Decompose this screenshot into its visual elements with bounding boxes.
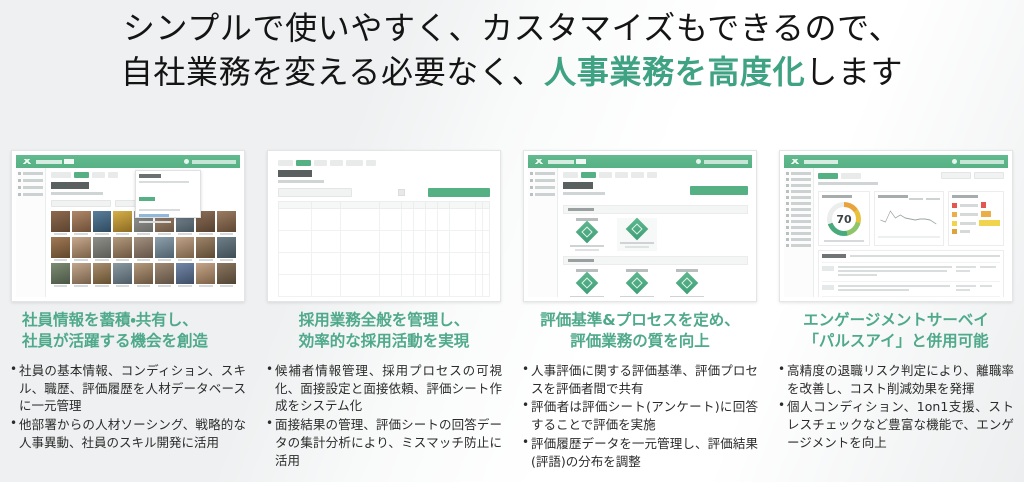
list-item[interactable] (822, 281, 1000, 296)
diamond-icon (676, 272, 699, 295)
caption-title: 採用業務全般を管理し、 効率的な採用活動を実現 (266, 310, 502, 353)
account-name[interactable] (704, 160, 748, 164)
col-review[interactable] (475, 202, 482, 209)
table-row (279, 275, 490, 297)
monthly-list-panel (818, 250, 1004, 297)
col-round-1[interactable] (401, 202, 413, 209)
bullet-list: 高精度の退職リスク判定により、離職率を改善し、コスト削減効果を発揮 個人コンディ… (778, 362, 1014, 452)
employee-photo-grid (51, 211, 236, 287)
app-header-bar (784, 155, 1008, 168)
list-item: 高精度の退職リスク判定により、離職率を改善し、コスト削減効果を発揮 (778, 362, 1014, 398)
section-header-2023[interactable] (563, 256, 748, 265)
caption-engagement: エンゲージメントサーベイ 「パルスアイ」と併用可能 高精度の退職リスク判定により… (768, 310, 1024, 471)
sidebar-item[interactable] (786, 244, 811, 247)
employee-card[interactable] (93, 237, 112, 261)
sidebar-item[interactable] (786, 172, 811, 175)
report-icon (786, 220, 789, 223)
team-icon (786, 232, 789, 235)
page-title (278, 170, 312, 177)
gear-icon (530, 193, 533, 196)
alert-item[interactable] (952, 202, 1000, 208)
page-subtitle (563, 192, 605, 195)
sidebar-item[interactable] (786, 196, 811, 199)
tab-history[interactable] (631, 172, 644, 178)
warning-icon (952, 212, 957, 217)
col-round-3[interactable] (426, 202, 438, 209)
grid-icon (530, 172, 533, 175)
app-header-bar (16, 155, 240, 168)
tab-settings[interactable] (108, 172, 118, 178)
list-item: 評価者は評価シート(アンケート)に回答することで評価を実施 (522, 398, 758, 434)
employee-card[interactable] (155, 263, 174, 287)
tab-settings[interactable] (647, 172, 657, 178)
evaluation-card[interactable] (617, 218, 657, 251)
col-stage[interactable] (450, 202, 475, 209)
app-header-bar (528, 155, 752, 168)
diamond-icon (576, 272, 599, 295)
table-row (279, 209, 490, 231)
logo-badge (576, 159, 586, 164)
employee-card[interactable] (93, 263, 112, 287)
filter-label (357, 189, 393, 196)
list-item: 面接結果の管理、評価シートの回答データの集計分析により、ミスマッチ防止に活用 (266, 416, 502, 469)
sidebar-item[interactable] (786, 208, 811, 211)
headline-line-1: シンプルで使いやすく、カスタマイズもできるので、 (0, 6, 1024, 50)
gear-icon (786, 244, 789, 247)
home-icon (786, 172, 789, 175)
risk-alert-panel (948, 191, 1004, 246)
employee-card[interactable] (72, 211, 91, 235)
employee-card[interactable] (196, 263, 215, 287)
list-header (822, 254, 1000, 258)
caption-title: エンゲージメントサーベイ 「パルスアイ」と併用可能 (778, 310, 1014, 353)
column-evaluation (512, 150, 768, 302)
tab-bar (278, 160, 490, 166)
col-candidate-name[interactable] (312, 202, 341, 209)
sidebar-item[interactable] (786, 184, 811, 187)
logo-mark-icon (788, 159, 802, 164)
screenshot-card-engagement-dashboard[interactable]: 70 (779, 150, 1013, 302)
screenshot-card-evaluation-list[interactable] (523, 150, 757, 302)
alert-item[interactable] (952, 220, 1000, 226)
employee-detail-popover[interactable] (135, 170, 201, 218)
sidebar-item[interactable] (786, 214, 811, 217)
tab-evaluation-management[interactable] (563, 172, 578, 178)
tab-org[interactable] (92, 172, 105, 178)
list-item: 人事評価に関する評価基準、評価プロセスを評価者間で共有 (522, 362, 758, 398)
employee-card[interactable] (134, 237, 153, 261)
tab-interviews[interactable] (330, 160, 343, 166)
export-icon (786, 238, 789, 241)
caption-evaluation: 評価基準&プロセスを定め、 評価業務の質を向上 人事評価に関する評価基準、評価プ… (512, 310, 768, 471)
caption-employee-database: 社員情報を蓄積・共有し、 社員が活躍する機会を創造 社員の基本情報、コンディショ… (0, 310, 256, 471)
trend-line (878, 202, 940, 234)
popover-tag (139, 197, 155, 201)
tab-members[interactable] (841, 173, 861, 179)
sidebar-item[interactable] (786, 232, 811, 235)
tab-database[interactable] (51, 172, 71, 178)
condition-gauge-panel: 70 (818, 191, 870, 246)
table-row (279, 297, 490, 298)
headline-line-2-prefix: 自社業務を変える必要なく、 (121, 53, 544, 91)
app-logo (532, 159, 586, 164)
headline-line-2-suffix: します (805, 53, 903, 91)
app-header-actions (952, 159, 1004, 164)
status-badge (822, 285, 834, 290)
list-item: 社員の基本情報、コンディション、スキル、職歴、評価履歴を人材データベースに一元管… (10, 362, 246, 415)
grid-icon (18, 172, 21, 175)
sidebar-item[interactable] (786, 178, 811, 181)
caption-recruiting: 採用業務全般を管理し、 効率的な採用活動を実現 候補者情報管理、採用プロセスの可… (256, 310, 512, 471)
analysis-icon (786, 226, 789, 229)
employee-card[interactable] (176, 237, 195, 261)
sidebar-nav (16, 168, 46, 297)
employee-card[interactable] (51, 211, 70, 235)
tab-bar (563, 172, 748, 178)
employee-card[interactable] (176, 263, 195, 287)
headline: シンプルで使いやすく、カスタマイズもできるので、 自社業務を変える必要なく、人事… (0, 0, 1024, 94)
tab-evaluation-list[interactable] (581, 172, 596, 178)
sidebar-item[interactable] (786, 190, 811, 193)
tab-surveys[interactable] (346, 160, 363, 166)
employee-card[interactable] (113, 211, 132, 235)
alert-item[interactable] (952, 211, 1000, 217)
employee-card[interactable] (155, 237, 174, 261)
evaluation-card[interactable] (567, 218, 607, 251)
employee-card[interactable] (72, 263, 91, 287)
add-candidate-button[interactable] (428, 188, 490, 197)
logo-badge (64, 159, 74, 164)
oneonone-icon (786, 208, 789, 211)
account-name[interactable] (960, 160, 1004, 164)
sidebar-nav (528, 168, 558, 297)
col-edit[interactable] (482, 202, 489, 209)
tab-settings[interactable] (366, 160, 376, 166)
gear-icon (18, 193, 21, 196)
sidebar-nav (784, 168, 814, 297)
org-icon (18, 186, 21, 189)
caption-title: 社員情報を蓄積・共有し、 社員が活躍する機会を創造 (10, 310, 246, 353)
condition-icon (786, 202, 789, 205)
headline-highlight: 人事業務を高度化 (544, 53, 805, 91)
tab-recruiting-management[interactable] (296, 160, 311, 166)
condition-gauge: 70 (827, 202, 861, 236)
page-title (51, 182, 89, 189)
app-logo (20, 159, 74, 164)
gauge-panel-title (822, 195, 852, 198)
evaluation-card[interactable] (617, 269, 657, 297)
tab-dashboard[interactable] (818, 173, 838, 179)
legend-item (926, 198, 940, 200)
logo-wordmark (548, 160, 574, 164)
col-round-2[interactable] (414, 202, 426, 209)
screenshot-card-applicant-table[interactable] (267, 150, 501, 302)
diamond-icon (576, 221, 599, 244)
tab-applications[interactable] (278, 160, 293, 166)
app-header-actions (184, 159, 236, 164)
sidebar-item[interactable] (786, 220, 811, 223)
condition-trend-panel (874, 191, 944, 246)
sidebar-item[interactable] (18, 179, 43, 182)
employee-card[interactable] (113, 263, 132, 287)
evaluation-card[interactable] (667, 269, 707, 297)
diamond-icon (626, 218, 649, 241)
survey-icon (786, 190, 789, 193)
evaluation-card[interactable] (567, 269, 607, 297)
status-badge (822, 266, 834, 271)
page-title (563, 182, 593, 189)
slide-root: シンプルで使いやすく、カスタマイズもできるので、 自社業務を変える必要なく、人事… (0, 0, 1024, 482)
search-input[interactable] (278, 188, 352, 197)
legend-item (909, 198, 923, 200)
sidebar-item[interactable] (530, 172, 555, 175)
column-engagement: 70 (768, 150, 1024, 302)
diamond-icon (626, 272, 649, 295)
employee-card[interactable] (113, 237, 132, 261)
logo-mark-icon (532, 159, 546, 164)
list-item: 個人コンディション、1on1支援、ストレスチェックなど豊富な機能で、エンゲージメ… (778, 398, 1014, 451)
warning-icon (952, 229, 957, 234)
employee-card[interactable] (51, 263, 70, 287)
search-input[interactable] (51, 200, 111, 207)
employee-card[interactable] (93, 211, 112, 235)
warning-icon (952, 203, 957, 208)
popover-link[interactable] (139, 214, 169, 217)
trend-chart (878, 202, 940, 234)
col-position[interactable] (341, 202, 380, 209)
employee-card[interactable] (217, 237, 236, 261)
logo-wordmark (804, 160, 838, 164)
employee-card[interactable] (134, 263, 153, 287)
caption-title: 評価基準&プロセスを定め、 評価業務の質を向上 (522, 310, 758, 353)
sidebar-item[interactable] (18, 172, 43, 175)
gauge-caption (824, 240, 864, 242)
employee-card[interactable] (217, 263, 236, 287)
warning-icon (952, 221, 957, 226)
page-subtitle (51, 192, 103, 195)
chart-title (878, 195, 908, 198)
clipboard-icon (530, 179, 533, 182)
stress-check-icon (786, 214, 789, 217)
list-item: 他部署からの人材ソーシング、戦略的な人事異動、社員のスキル開発に活用 (10, 416, 246, 452)
employee-card[interactable] (72, 237, 91, 261)
filter-icon[interactable] (398, 189, 405, 196)
create-evaluation-button[interactable] (690, 186, 748, 195)
col-result[interactable] (438, 202, 450, 209)
table-header-row (279, 202, 490, 209)
tab-candidates[interactable] (314, 160, 327, 166)
alerts-title (952, 195, 978, 198)
table-row (279, 231, 490, 253)
sidebar-item[interactable] (530, 193, 555, 196)
logo-mark-icon (20, 159, 34, 164)
breadcrumb (818, 182, 878, 185)
notification-icon[interactable] (696, 159, 701, 164)
dashboard-icon (786, 178, 789, 181)
col-status[interactable] (380, 202, 402, 209)
gauge-value: 70 (832, 207, 856, 231)
chart-x-axis (878, 236, 940, 238)
applicant-table (278, 201, 490, 297)
headline-line-2: 自社業務を変える必要なく、人事業務を高度化します (0, 50, 1024, 94)
evaluation-cards-2023 (563, 269, 748, 297)
tab-employee-list[interactable] (74, 172, 89, 178)
sidebar-item[interactable] (18, 193, 43, 196)
user-icon (18, 179, 21, 182)
list-item: 評価履歴データを一元管理し、評価結果(評語)の分布を調整 (522, 435, 758, 471)
dashboard-panels: 70 (818, 189, 1004, 246)
sidebar-item[interactable] (530, 186, 555, 189)
logo-wordmark (36, 160, 62, 164)
list-item[interactable] (822, 296, 1000, 297)
chart-icon (530, 186, 533, 189)
bullet-list: 候補者情報管理、採用プロセスの可視化、面接設定と面接依頼、評価シート作成をシステ… (266, 362, 502, 470)
column-recruiting (256, 150, 512, 302)
employee-card[interactable] (51, 237, 70, 261)
notification-icon[interactable] (952, 159, 957, 164)
section-header-2024[interactable] (563, 205, 748, 214)
employee-card[interactable] (217, 211, 236, 235)
caption-row: 社員情報を蓄積・共有し、 社員が活躍する機会を創造 社員の基本情報、コンディショ… (0, 310, 1024, 471)
screenshot-row: 70 (0, 150, 1024, 302)
segment-select[interactable] (974, 172, 1004, 179)
col-apply-date[interactable] (279, 202, 312, 209)
screenshot-card-employee-directory[interactable] (11, 150, 245, 302)
table-row (279, 253, 490, 275)
sidebar-item[interactable] (530, 179, 555, 182)
app-header-actions (696, 159, 748, 164)
bullet-list: 人事評価に関する評価基準、評価プロセスを評価者間で共有 評価者は評価シート(アン… (522, 362, 758, 471)
popover-title (139, 174, 161, 178)
app-logo (788, 159, 838, 164)
list-item[interactable] (822, 262, 1000, 281)
column-employee-database (0, 150, 256, 302)
users-icon (786, 184, 789, 187)
notification-icon[interactable] (184, 159, 189, 164)
evaluation-cards-2024 (563, 218, 748, 251)
sidebar-item[interactable] (786, 226, 811, 229)
period-select[interactable] (941, 172, 971, 179)
alert-icon (786, 196, 789, 199)
tab-criteria[interactable] (599, 172, 612, 178)
sidebar-item[interactable] (786, 202, 811, 205)
account-name[interactable] (192, 160, 236, 164)
tab-sheets[interactable] (615, 172, 628, 178)
sidebar-item[interactable] (18, 186, 43, 189)
bullet-list: 社員の基本情報、コンディション、スキル、職歴、評価履歴を人材データベースに一元管… (10, 362, 246, 452)
page-subtitle (278, 180, 324, 183)
sidebar-item[interactable] (786, 238, 811, 241)
alert-item[interactable] (952, 229, 1000, 234)
list-item: 候補者情報管理、採用プロセスの可視化、面接設定と面接依頼、評価シート作成をシステ… (266, 362, 502, 415)
employee-card[interactable] (196, 237, 215, 261)
